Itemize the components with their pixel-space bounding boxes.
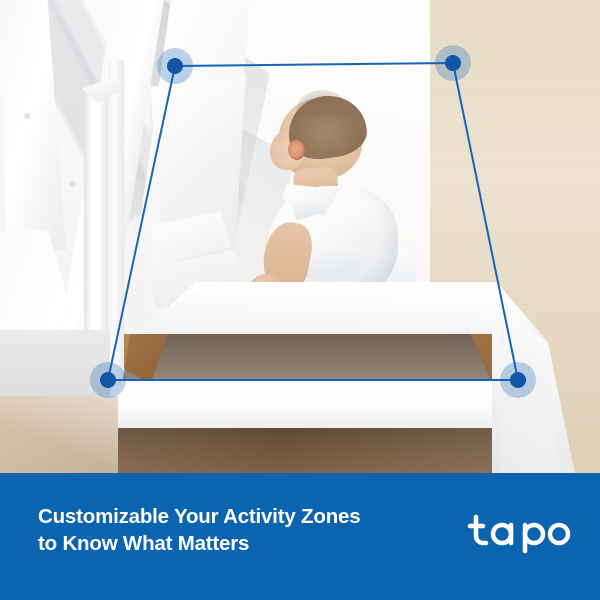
activity-zone-handles[interactable] [90, 45, 536, 398]
activity-zone-polygon[interactable] [108, 63, 518, 380]
top-left-handle[interactable] [167, 58, 183, 74]
bottom-left-handle[interactable] [100, 372, 116, 388]
caption-line-1: Customizable Your Activity Zones [38, 505, 360, 528]
bottom-right-handle[interactable] [510, 372, 526, 388]
top-right-handle[interactable] [445, 55, 461, 71]
tapo-logo [466, 512, 574, 556]
scene-photo [0, 0, 600, 473]
activity-zone-overlay[interactable] [0, 0, 600, 473]
footer-caption: Customizable Your Activity Zones to Know… [38, 503, 438, 557]
product-banner: Customizable Your Activity Zones to Know… [0, 0, 600, 600]
caption-line-2: to Know What Matters [38, 530, 438, 557]
